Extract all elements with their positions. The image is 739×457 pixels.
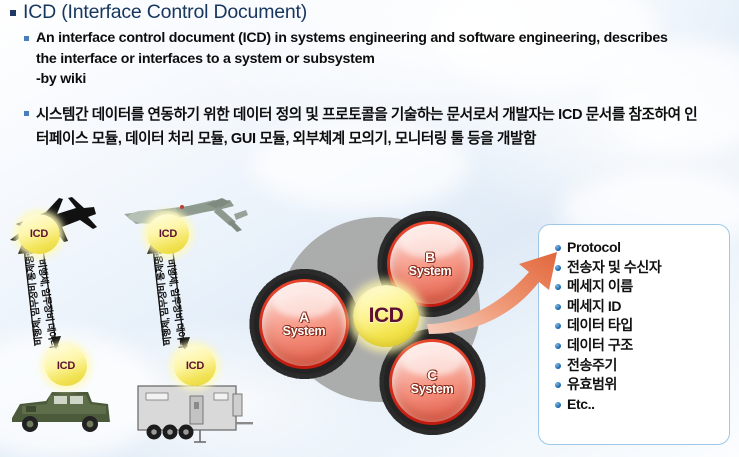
list-item: 데이터 타입 [555,316,729,336]
gear-a-system: A System [250,270,358,378]
icd-node-top: ICD [18,214,60,254]
title-bullet-icon [10,10,16,16]
gear-face: C System [392,342,472,422]
list-item: 전송자 및 수신자 [555,258,729,278]
slide-canvas: ICD (Interface Control Document) An inte… [0,0,739,457]
title-line: ICD (Interface Control Document) [0,0,739,25]
icd-hub-label: ICD [369,304,404,328]
page-title: ICD (Interface Control Document) [23,0,307,25]
icd-contents-panel: Protocol 전송자 및 수신자 메세지 이름 메세지 ID 데이터 타입 … [538,224,730,445]
korean-paragraph-line: 시스템간 데이터를 연동하기 위한 데이터 정의 및 프로토콜을 기술하는 문서… [0,103,739,151]
icd-node-bottom: ICD [174,346,216,386]
list-item-label: 메세지 ID [567,297,621,317]
korean-paragraph: 시스템간 데이터를 연동하기 위한 데이터 정의 및 프로토콜을 기술하는 문서… [36,103,698,151]
gear-face: A System [262,282,346,366]
list-item: 전송주기 [555,356,729,376]
list-item-label: Etc.. [567,395,595,415]
list-item: Protocol [555,238,729,258]
list-item-label: 메세지 이름 [567,277,633,297]
list-item-label: 유효범위 [567,375,617,395]
list-item: Etc.. [555,395,729,415]
icd-node-bottom: ICD [45,346,87,386]
flow-arrow-icon [425,228,565,338]
bullet-dot-icon [555,343,561,349]
gear-label-line2: System [411,383,454,396]
list-item-label: Protocol [567,238,621,258]
list-item-label: 전송주기 [567,356,617,376]
icd-hub: ICD [353,285,419,347]
humvee-ground-vehicle-icon [12,392,110,432]
list-item: 메세지 이름 [555,277,729,297]
text-block: ICD (Interface Control Document) An inte… [0,0,739,151]
list-item: 유효범위 [555,375,729,395]
scene-jet-humvee: ICD ICD 비행체, 임무장비 데이터 비행체, 임무장비 통제명령 [2,196,122,454]
shelter-trailer-icon [138,386,253,442]
list-item-label: 데이터 구조 [567,336,633,356]
list-item: 데이터 구조 [555,336,729,356]
bullet-dot-icon [555,363,561,369]
bullet-text-2: -by wiki [36,69,86,90]
gear-label-line1: C [427,368,437,382]
icd-node-top: ICD [147,214,189,254]
scene-uav-shelter: ICD ICD 비행체, 임무장비 데이터 비행체, 임무장비 통제명령 [118,196,253,454]
bullet-dot-icon [555,382,561,388]
bullet-dot-icon [555,402,561,408]
bullet-line-1: An interface control document (ICD) in s… [0,28,739,69]
sub-bullet-icon [24,111,29,116]
list-item-label: 전송자 및 수신자 [567,258,661,278]
list-item-label: 데이터 타입 [567,316,633,336]
list-item: 메세지 ID [555,297,729,317]
bullet-line-2: -by wiki [0,69,739,90]
gear-label-line2: System [283,325,326,338]
sub-bullet-icon [24,36,29,41]
icd-contents-list: Protocol 전송자 및 수신자 메세지 이름 메세지 ID 데이터 타입 … [539,225,729,414]
gear-label-line1: A [299,310,309,324]
bullet-text-1: An interface control document (ICD) in s… [36,28,691,69]
